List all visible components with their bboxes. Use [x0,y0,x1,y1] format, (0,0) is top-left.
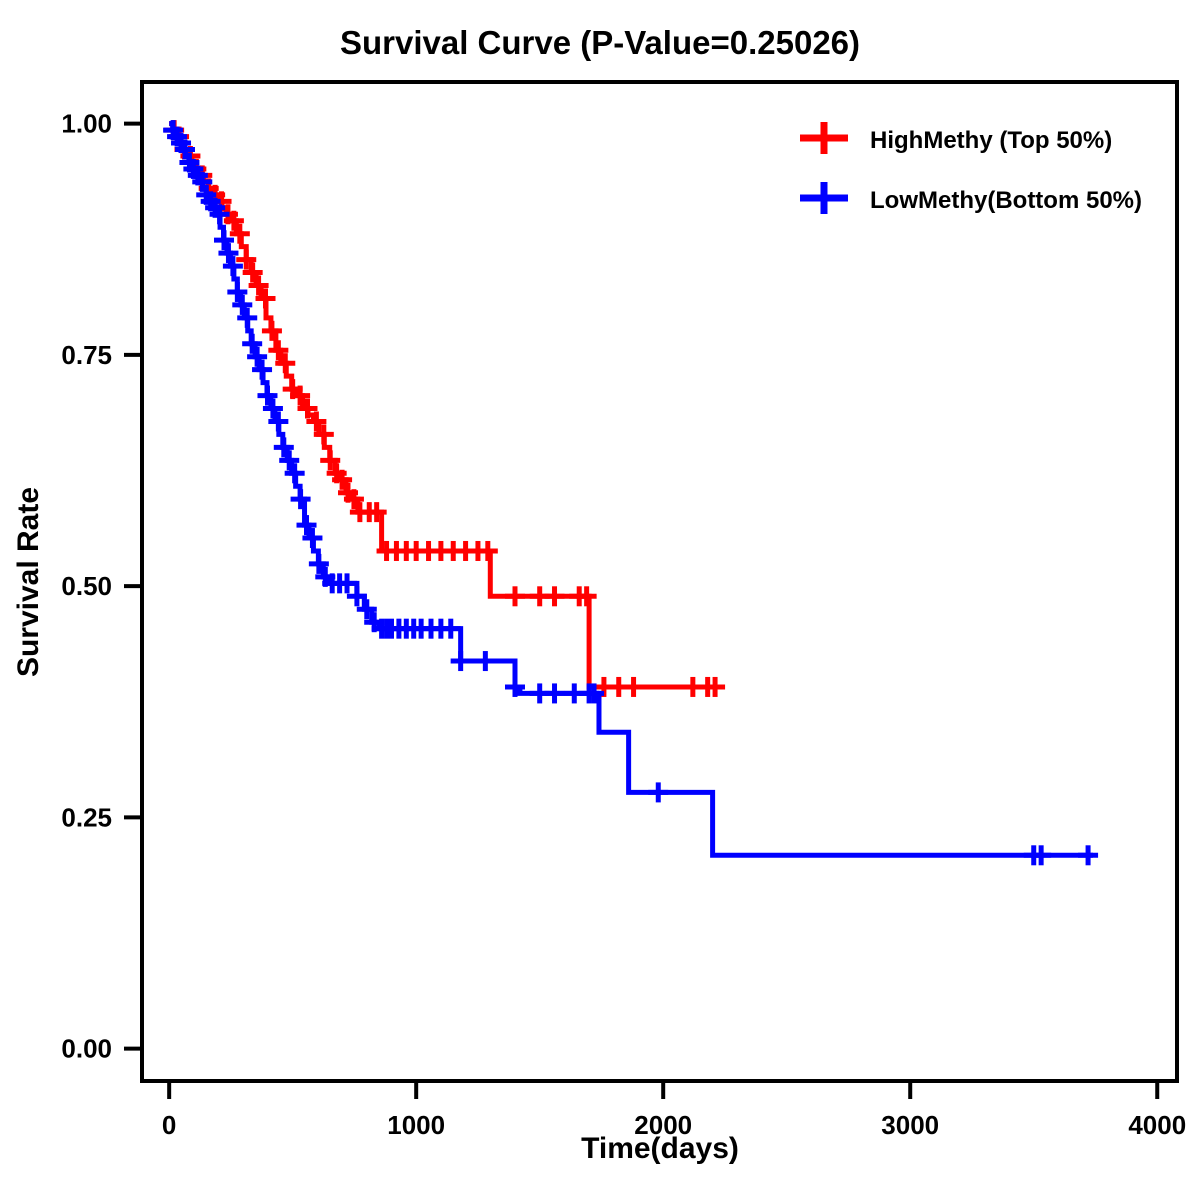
y-tick-label-0.50: 0.50 [61,571,112,601]
page-title: Survival Curve (P-Value=0.25026) [340,24,860,61]
legend-label: LowMethy(Bottom 50%) [870,187,1142,214]
y-axis-label: Survival Rate [12,487,45,677]
y-tick-label-0.75: 0.75 [61,340,112,370]
x-tick-label-4000: 4000 [1128,1110,1186,1140]
x-tick-label-3000: 3000 [881,1110,939,1140]
figure-background [0,0,1200,1200]
survival-chart-figure: Survival Curve (P-Value=0.25026) 0100020… [0,0,1200,1200]
km-plot-svg: Survival Curve (P-Value=0.25026) 0100020… [0,0,1200,1200]
y-tick-label-0.00: 0.00 [61,1034,112,1064]
x-axis-label: Time(days) [581,1132,739,1165]
y-tick-label-1.00: 1.00 [61,109,112,139]
y-tick-label-0.25: 0.25 [61,802,112,832]
x-tick-label-0: 0 [162,1110,176,1140]
x-tick-label-1000: 1000 [387,1110,445,1140]
legend-label: HighMethy (Top 50%) [870,127,1112,154]
